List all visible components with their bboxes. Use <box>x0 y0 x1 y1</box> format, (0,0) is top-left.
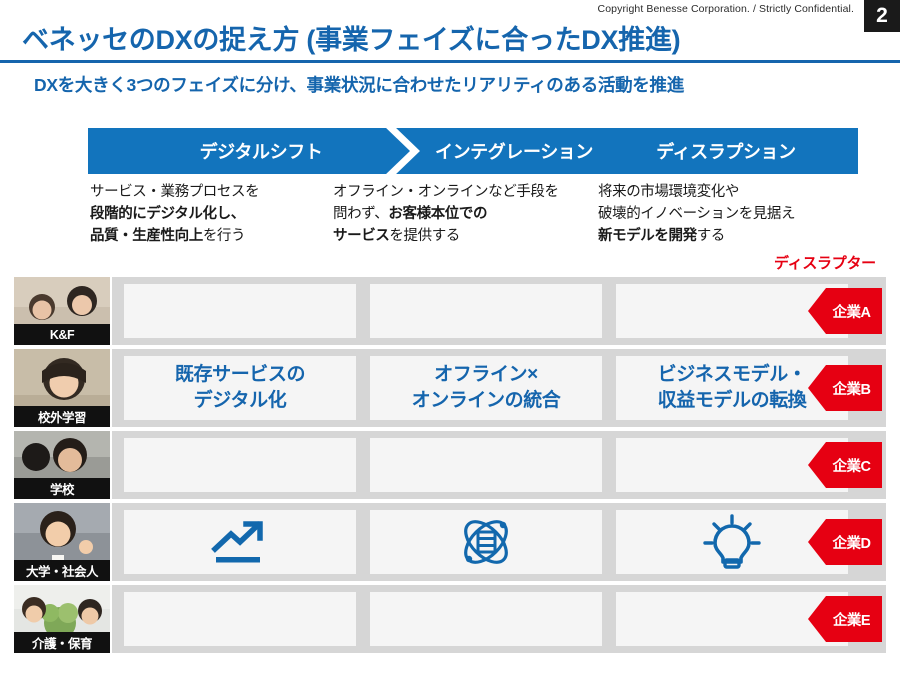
matrix-row: K&F 企業A <box>14 277 886 345</box>
desc-line: 破壊的イノベーションを見据え <box>598 203 795 225</box>
phase-header-digital-shift: デジタルシフト <box>88 128 434 174</box>
page-number-badge: 2 <box>864 0 900 32</box>
matrix-row: 介護・保育 企業E <box>14 585 886 653</box>
matrix-cell <box>370 438 602 492</box>
desc-line-bold: 段階的にデジタル化し、 <box>90 206 245 222</box>
persona-label: 介護・保育 <box>14 632 110 653</box>
phase-header-label: ディスラプション <box>656 138 796 164</box>
title-divider <box>0 60 900 63</box>
company-arrow-c: 企業C <box>808 442 882 488</box>
persona-thumbnail-care-childcare: 介護・保育 <box>14 585 110 653</box>
desc-line-bold: 新モデルを開発 <box>598 228 697 244</box>
company-arrow-a: 企業A <box>808 288 882 334</box>
matrix-cell <box>124 592 356 646</box>
phase-header-disruption: ディスラプション <box>594 128 858 174</box>
desc-line: 将来の市場環境変化や <box>598 181 795 203</box>
phase-header-integration: インテグレーション <box>434 128 594 174</box>
company-label: 企業B <box>808 365 882 411</box>
company-arrow-b: 企業B <box>808 365 882 411</box>
persona-label: 学校 <box>14 478 110 499</box>
desc-line-bold: お客様本位での <box>388 206 487 222</box>
phase-description-digital-shift: サービス・業務プロセスを 段階的にデジタル化し、 品質・生産性向上を行う <box>90 181 259 247</box>
phase-header-label: デジタルシフト <box>200 138 323 164</box>
matrix-cell <box>124 438 356 492</box>
page-title: ベネッセのDXの捉え方 (事業フェイズに合ったDX推進) <box>22 18 680 57</box>
phase-header-label: インテグレーション <box>435 138 593 164</box>
matrix-cell <box>370 592 602 646</box>
desc-line-tail: する <box>697 228 725 244</box>
company-label: 企業C <box>808 442 882 488</box>
desc-line: オフライン・オンラインなど手段を <box>333 181 559 203</box>
company-arrow-e: 企業E <box>808 596 882 642</box>
desc-line: サービス・業務プロセスを <box>90 181 259 203</box>
matrix-row: 学校 企業C <box>14 431 886 499</box>
trending-up-icon <box>124 503 356 581</box>
desc-line-bold: サービス <box>333 228 389 244</box>
page-subtitle: DXを大きく3つのフェイズに分け、事業状況に合わせたリアリティのある活動を推進 <box>34 72 684 97</box>
persona-label: 大学・社会人 <box>14 560 110 581</box>
data-orbit-icon <box>370 503 602 581</box>
persona-thumbnail-extracurricular: 校外学習 <box>14 349 110 427</box>
phase-matrix: K&F 企業A 既存サービスの デジタル化 オフライン× オンラインの統合 ビジ… <box>14 277 886 657</box>
slide-root: Copyright Benesse Corporation. / Strictl… <box>0 0 900 675</box>
desc-line-tail: を提供する <box>389 228 460 244</box>
disruptor-label: ディスラプター <box>774 252 876 273</box>
desc-line-bold: 品質・生産性向上 <box>90 228 203 244</box>
matrix-row: 大学・社会人 企業D <box>14 503 886 581</box>
desc-line-head: 問わず、 <box>333 206 388 222</box>
phase-description-disruption: 将来の市場環境変化や 破壊的イノベーションを見据え 新モデルを開発する <box>598 181 795 247</box>
company-arrow-d: 企業D <box>808 519 882 565</box>
matrix-row: 既存サービスの デジタル化 オフライン× オンラインの統合 ビジネスモデル・ 収… <box>14 349 886 427</box>
persona-label: 校外学習 <box>14 406 110 427</box>
persona-thumbnail-school: 学校 <box>14 431 110 499</box>
copyright-notice: Copyright Benesse Corporation. / Strictl… <box>598 3 854 15</box>
persona-thumbnail-kf: K&F <box>14 277 110 345</box>
matrix-cell <box>124 284 356 338</box>
phase-description-integration: オフライン・オンラインなど手段を 問わず、お客様本位での サービスを提供する <box>333 181 559 247</box>
company-label: 企業A <box>808 288 882 334</box>
phase-header-bar: デジタルシフト ディスラプション インテグレーション <box>88 128 858 174</box>
company-label: 企業D <box>808 519 882 565</box>
persona-label: K&F <box>14 324 110 345</box>
desc-line-tail: を行う <box>203 228 245 244</box>
company-label: 企業E <box>808 596 882 642</box>
matrix-cell-text-integration: オフライン× オンラインの統合 <box>370 349 602 427</box>
matrix-cell <box>370 284 602 338</box>
persona-thumbnail-university-adult: 大学・社会人 <box>14 503 110 581</box>
matrix-cell-text-digital-shift: 既存サービスの デジタル化 <box>124 349 356 427</box>
